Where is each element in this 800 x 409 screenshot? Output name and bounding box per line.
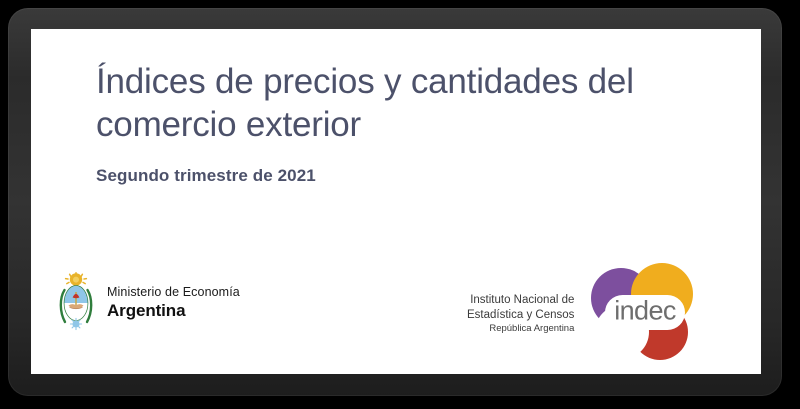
page-title-line-2: comercio exterior xyxy=(96,105,361,144)
presentation-slide: Índices de precios y cantidades delcomer… xyxy=(31,29,761,374)
indec-logo: Instituto Nacional de Estadística y Cens… xyxy=(467,262,696,362)
page-title-line-1: Índices de precios y cantidades del xyxy=(96,62,634,101)
country-name: Argentina xyxy=(107,301,240,321)
ministry-name: Ministerio de Economía xyxy=(107,285,240,300)
indec-wordmark-text: indec xyxy=(615,296,677,326)
indec-circles-icon: indec xyxy=(588,262,696,362)
footer-logo-row: Ministerio de Economía Argentina Institu… xyxy=(31,244,761,364)
page-subtitle: Segundo trimestre de 2021 xyxy=(96,166,696,186)
slide-viewer-frame: Índices de precios y cantidades delcomer… xyxy=(8,8,782,396)
ministry-wordmark: Ministerio de Economía Argentina xyxy=(107,285,240,321)
indec-line-3: República Argentina xyxy=(467,323,574,335)
page-title: Índices de precios y cantidades delcomer… xyxy=(96,61,696,146)
argentina-coat-of-arms-icon xyxy=(55,272,97,334)
indec-line-2: Estadística y Censos xyxy=(467,308,574,322)
ministry-of-economy-logo: Ministerio de Economía Argentina xyxy=(55,272,240,334)
indec-line-1: Instituto Nacional de xyxy=(467,293,574,307)
title-block: Índices de precios y cantidades delcomer… xyxy=(96,61,696,186)
indec-institution-text: Instituto Nacional de Estadística y Cens… xyxy=(467,289,574,335)
